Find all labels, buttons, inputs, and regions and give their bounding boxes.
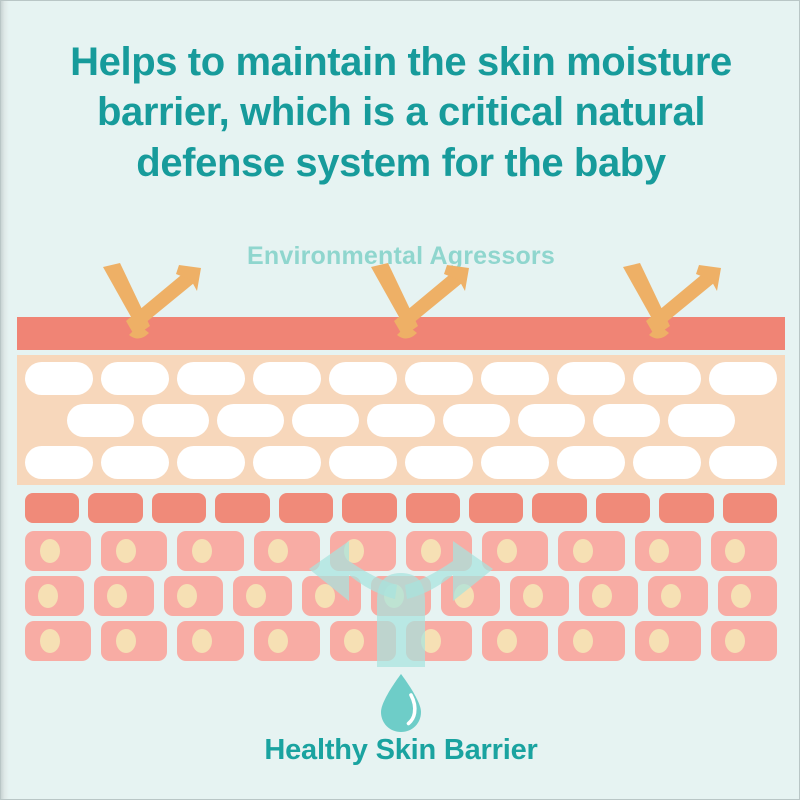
granular-cell-row <box>17 493 785 523</box>
living-cell <box>406 531 472 571</box>
living-cell <box>330 531 396 571</box>
cell-nucleus <box>192 629 212 653</box>
living-cell <box>330 621 396 661</box>
living-cell <box>177 621 243 661</box>
environmental-aggressors-label: Environmental Agressors <box>1 242 800 271</box>
living-cell <box>635 621 701 661</box>
living-cell-row <box>17 531 785 571</box>
corneum-brick <box>25 446 93 479</box>
living-cell <box>94 576 153 616</box>
living-cell <box>254 621 320 661</box>
cell-nucleus <box>661 584 681 608</box>
living-cell <box>711 621 777 661</box>
granular-cell <box>723 493 777 523</box>
living-cell <box>718 576 777 616</box>
living-cell <box>441 576 500 616</box>
corneum-brick <box>481 446 549 479</box>
cell-nucleus <box>497 539 517 563</box>
corneum-brick-row <box>17 404 785 437</box>
cell-nucleus <box>107 584 127 608</box>
page-title: Helps to maintain the skin moisture barr… <box>35 37 767 188</box>
living-cell <box>406 621 472 661</box>
cell-nucleus <box>725 539 745 563</box>
corneum-brick <box>443 404 510 437</box>
living-cell <box>482 531 548 571</box>
granular-cell <box>215 493 269 523</box>
corneum-brick <box>329 446 397 479</box>
corneum-brick <box>367 404 434 437</box>
corneum-brick <box>177 446 245 479</box>
living-cell <box>177 531 243 571</box>
corneum-brick <box>217 404 284 437</box>
living-cell <box>101 621 167 661</box>
cell-nucleus <box>192 539 212 563</box>
cell-nucleus <box>268 629 288 653</box>
living-cell <box>510 576 569 616</box>
cell-nucleus <box>116 629 136 653</box>
living-cell-row <box>17 576 785 616</box>
corneum-brick <box>25 362 93 395</box>
water-droplet-icon <box>378 673 424 733</box>
infographic-canvas: Helps to maintain the skin moisture barr… <box>0 0 800 800</box>
corneum-brick <box>709 362 777 395</box>
cell-nucleus <box>344 539 364 563</box>
granular-cell <box>279 493 333 523</box>
cell-nucleus <box>421 629 441 653</box>
cell-nucleus <box>573 629 593 653</box>
cell-nucleus <box>649 539 669 563</box>
living-cell <box>711 531 777 571</box>
living-cell <box>25 531 91 571</box>
corneum-brick <box>709 446 777 479</box>
living-cell <box>558 621 624 661</box>
cell-nucleus <box>40 629 60 653</box>
living-cell <box>558 531 624 571</box>
corneum-brick <box>177 362 245 395</box>
living-cell <box>233 576 292 616</box>
cell-nucleus <box>38 584 58 608</box>
corneum-brick <box>481 362 549 395</box>
corneum-brick <box>253 362 321 395</box>
cell-nucleus <box>344 629 364 653</box>
granular-cell <box>25 493 79 523</box>
living-cell <box>635 531 701 571</box>
living-cell <box>371 576 430 616</box>
cell-nucleus <box>40 539 60 563</box>
granular-cell <box>406 493 460 523</box>
corneum-brick <box>593 404 660 437</box>
corneum-brick <box>633 362 701 395</box>
living-cell <box>25 576 84 616</box>
cell-nucleus <box>497 629 517 653</box>
corneum-brick <box>405 446 473 479</box>
cell-nucleus <box>573 539 593 563</box>
granular-cell <box>88 493 142 523</box>
corneum-brick <box>633 446 701 479</box>
corneum-brick-row <box>17 362 785 395</box>
cell-nucleus <box>246 584 266 608</box>
corneum-brick <box>101 446 169 479</box>
granular-cell <box>532 493 586 523</box>
skin-surface-layer <box>17 317 785 350</box>
healthy-skin-barrier-label: Healthy Skin Barrier <box>1 734 800 767</box>
cell-nucleus <box>421 539 441 563</box>
living-cell <box>25 621 91 661</box>
cell-nucleus <box>592 584 612 608</box>
granular-cell <box>342 493 396 523</box>
cell-nucleus <box>315 584 335 608</box>
corneum-brick <box>142 404 209 437</box>
stratum-corneum-layer <box>17 355 785 485</box>
corneum-brick-row <box>17 446 785 479</box>
living-cell <box>164 576 223 616</box>
cell-nucleus <box>384 584 404 608</box>
cell-nucleus <box>268 539 288 563</box>
cell-nucleus <box>725 629 745 653</box>
corneum-brick <box>253 446 321 479</box>
living-cell <box>482 621 548 661</box>
cell-nucleus <box>454 584 474 608</box>
granular-cell <box>469 493 523 523</box>
corneum-brick <box>405 362 473 395</box>
living-cell <box>302 576 361 616</box>
cell-nucleus <box>116 539 136 563</box>
corneum-brick <box>518 404 585 437</box>
corneum-brick <box>329 362 397 395</box>
cell-nucleus <box>649 629 669 653</box>
living-cell <box>579 576 638 616</box>
corneum-brick <box>557 362 625 395</box>
cell-nucleus <box>731 584 751 608</box>
granular-cell <box>152 493 206 523</box>
granular-cell <box>596 493 650 523</box>
skin-cross-section-diagram <box>17 317 785 647</box>
living-cell <box>648 576 707 616</box>
living-cell <box>101 531 167 571</box>
cell-nucleus <box>523 584 543 608</box>
corneum-brick <box>668 404 735 437</box>
cell-nucleus <box>177 584 197 608</box>
corneum-brick <box>67 404 134 437</box>
living-cell-row <box>17 621 785 661</box>
living-cell <box>254 531 320 571</box>
corneum-brick <box>557 446 625 479</box>
corneum-brick <box>101 362 169 395</box>
corneum-brick <box>292 404 359 437</box>
granular-cell <box>659 493 713 523</box>
